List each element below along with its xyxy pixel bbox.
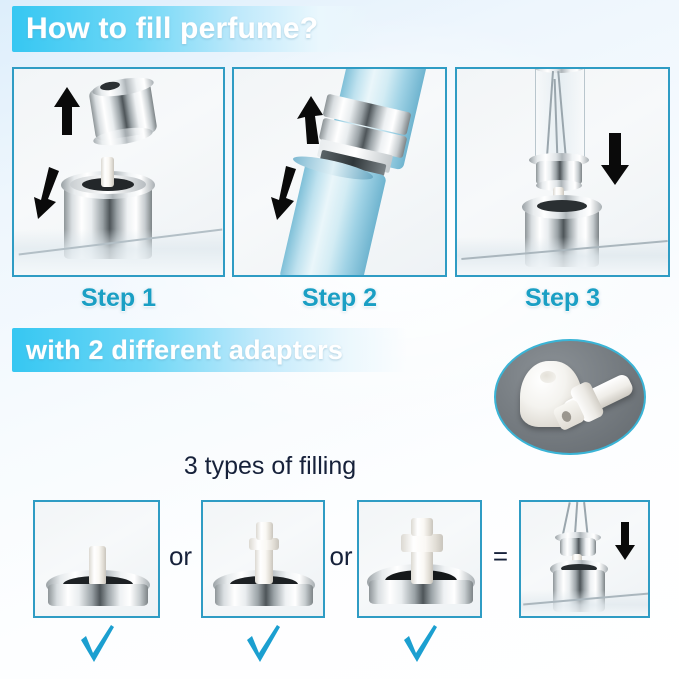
up-arrow-icon (292, 94, 326, 146)
step-2-panel (232, 67, 447, 277)
page-title: How to fill perfume? (26, 12, 318, 46)
connector-equals: = (482, 541, 519, 572)
step-3-label: Step 3 (455, 284, 670, 313)
collar-hole (537, 200, 587, 212)
dome-adapter-dimple (540, 371, 556, 383)
cross-adapter-flange (401, 534, 443, 552)
adapters-banner: with 2 different adapters (12, 328, 406, 372)
filling-result-panel (519, 500, 650, 618)
up-arrow-icon (50, 85, 84, 137)
down-arrow-icon (26, 165, 66, 221)
nozzle-cross-adapter-icon (411, 550, 433, 584)
bottle-glass-shoulder (14, 229, 225, 277)
step-2-label: Step 2 (232, 284, 447, 313)
types-heading: 3 types of filling (0, 452, 540, 481)
connector-or-1: or (160, 541, 201, 572)
checkmark-2-icon (244, 624, 282, 664)
down-arrow-icon (597, 131, 631, 187)
down-arrow-icon (266, 164, 302, 222)
down-arrow-icon (613, 520, 637, 562)
step-1-panel (12, 67, 225, 277)
adapters-photo (494, 339, 646, 455)
nozzle-plain-icon (89, 546, 106, 584)
cross-adapter-stub (411, 518, 433, 536)
checkmark-3-icon (401, 624, 439, 664)
adapter-top-stub (256, 522, 273, 540)
step-1-label: Step 1 (12, 284, 225, 313)
infographic-page: How to fill perfume? Step 1 (0, 0, 679, 679)
checkmark-1-icon (78, 624, 116, 664)
connector-or-2: or (325, 541, 357, 572)
title-banner: How to fill perfume? (12, 6, 378, 52)
step-3-panel (455, 67, 670, 277)
adapters-banner-label: with 2 different adapters (26, 335, 343, 366)
filling-type-3-panel (357, 500, 482, 618)
bottle-top-side (48, 584, 148, 606)
bottle-nozzle (101, 157, 114, 187)
bottle-top-side (215, 584, 313, 606)
nozzle-step-adapter-icon (255, 544, 273, 584)
filling-type-2-panel (201, 500, 325, 618)
filling-type-1-panel (33, 500, 160, 618)
